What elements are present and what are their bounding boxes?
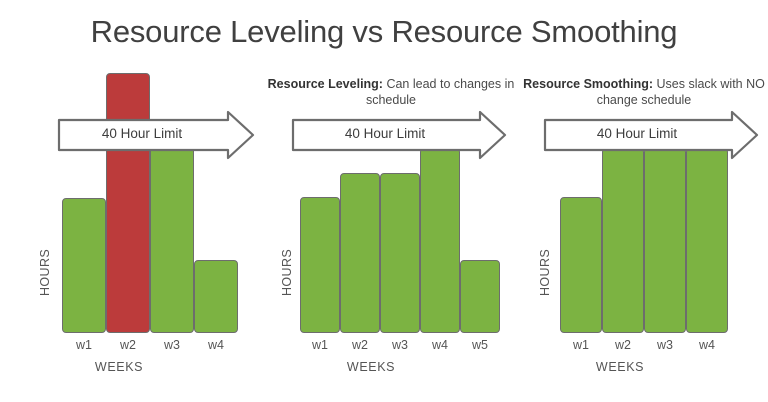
tick-w5: w5	[460, 338, 500, 352]
tick-w2: w2	[106, 338, 150, 352]
tick-w3: w3	[150, 338, 194, 352]
tick-w3: w3	[380, 338, 420, 352]
tick-w4: w4	[420, 338, 460, 352]
bar-w2[interactable]	[340, 173, 380, 333]
bar-w1[interactable]	[560, 197, 602, 333]
bar-w2[interactable]	[602, 148, 644, 333]
chart-panel-baseline: HOURS 40 Hour Limit w1 w2 w3 w4 WEEKS	[0, 0, 262, 402]
x-axis-label: WEEKS	[496, 360, 744, 374]
bar-w4[interactable]	[194, 260, 238, 333]
tick-w4: w4	[194, 338, 238, 352]
tick-w1: w1	[62, 338, 106, 352]
limit-label: 40 Hour Limit	[56, 126, 228, 141]
tick-w2: w2	[602, 338, 644, 352]
bar-w4[interactable]	[420, 148, 460, 333]
limit-label: 40 Hour Limit	[542, 126, 732, 141]
limit-label: 40 Hour Limit	[290, 126, 480, 141]
infographic-canvas: Resource Leveling vs Resource Smoothing …	[0, 0, 768, 402]
tick-w4: w4	[686, 338, 728, 352]
bar-w4[interactable]	[686, 148, 728, 333]
tick-w1: w1	[560, 338, 602, 352]
bar-w1[interactable]	[62, 198, 106, 333]
tick-w1: w1	[300, 338, 340, 352]
bar-w2[interactable]	[106, 73, 150, 333]
x-axis-label: WEEKS	[0, 360, 250, 374]
bar-w3[interactable]	[150, 147, 194, 333]
bar-w3[interactable]	[380, 173, 420, 333]
chart-panel-resource-leveling: Resource Leveling: Can lead to changes i…	[262, 0, 520, 402]
chart-panel-resource-smoothing: Resource Smoothing: Uses slack with NO c…	[520, 0, 768, 402]
x-axis-label: WEEKS	[242, 360, 500, 374]
bar-w1[interactable]	[300, 197, 340, 333]
bar-w3[interactable]	[644, 148, 686, 333]
bar-w5[interactable]	[460, 260, 500, 333]
tick-w2: w2	[340, 338, 380, 352]
tick-w3: w3	[644, 338, 686, 352]
